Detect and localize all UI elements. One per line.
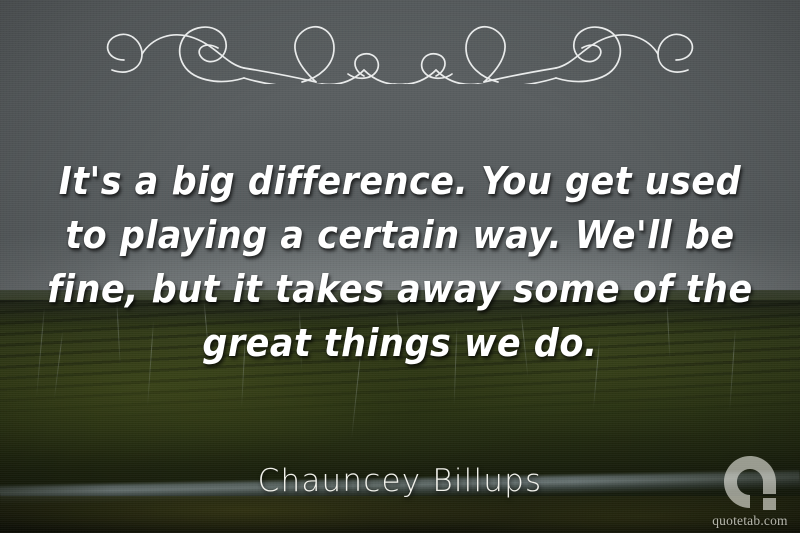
quote-line: fine, but it takes away some of the [0,260,800,319]
watermark[interactable]: quotetab.com [708,454,792,529]
quote-image-card: It's a big difference. You get used to p… [0,0,800,533]
quote-text: It's a big difference. You get used to p… [0,152,800,368]
watermark-domain[interactable]: quotetab.com [708,513,792,529]
quote-author: Chauncey Billups [0,463,800,499]
quote-line: to playing a certain way. We'll be [0,206,800,265]
quote-line: It's a big difference. You get used [0,152,800,211]
quote-line: great things we do. [0,314,800,373]
decorative-flourish-icon [90,12,710,84]
quotetab-logo-icon[interactable] [722,454,778,512]
